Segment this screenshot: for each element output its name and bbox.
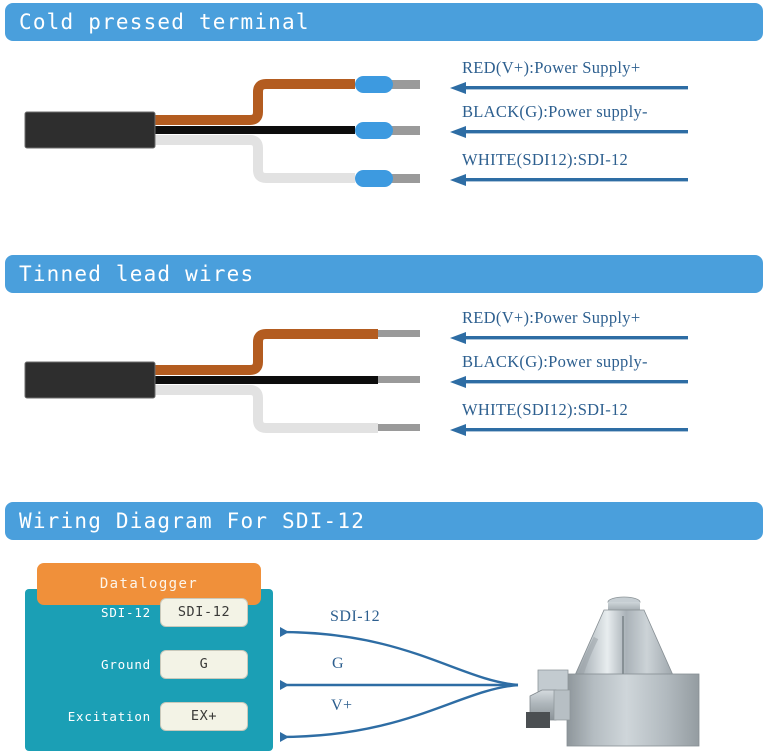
- cable-assembly-tinned: [0, 310, 460, 480]
- connection-label-sdi12: SDI-12: [330, 608, 380, 626]
- sensor-cone: [572, 610, 676, 682]
- cable-jacket: [25, 362, 155, 398]
- wire-label-group-white-1: WHITE(SDI12):SDI-12: [450, 150, 768, 194]
- red-wire-path: [150, 84, 355, 120]
- red-tinned-tip: [378, 330, 420, 337]
- wiring-instruction-sheet: Cold pressed terminal RED(V+):Power Supp…: [0, 0, 768, 753]
- wire-label-text: BLACK(G):Power supply-: [462, 352, 648, 372]
- wire-label-group-red-2: RED(V+):Power Supply+: [450, 308, 768, 352]
- sensor-fitting-collar: [554, 690, 570, 720]
- wire-label-group-white-2: WHITE(SDI12):SDI-12: [450, 400, 768, 444]
- cable-jacket: [25, 112, 155, 148]
- datalogger-title: Datalogger: [100, 576, 198, 592]
- terminal-excitation[interactable]: EX+: [160, 702, 248, 731]
- white-crimp-terminal: [355, 170, 393, 187]
- row-label: SDI-12: [25, 605, 160, 620]
- pointer-arrow-icon: [450, 331, 688, 345]
- row-label: Ground: [25, 657, 160, 672]
- row-label: Excitation: [25, 709, 160, 724]
- pointer-arrow-icon: [450, 125, 688, 139]
- wire-label-text: RED(V+):Power Supply+: [462, 58, 640, 78]
- wire-label-text: WHITE(SDI12):SDI-12: [462, 150, 628, 170]
- datalogger-row-excitation: Excitation EX+: [25, 701, 273, 731]
- connection-path-excitation: [280, 685, 518, 737]
- datalogger-row-ground: Ground G: [25, 649, 273, 679]
- pointer-arrow-icon: [450, 423, 688, 437]
- section-title: Tinned lead wires: [19, 262, 254, 286]
- connection-label-ground: G: [332, 655, 344, 673]
- terminal-sdi12[interactable]: SDI-12: [160, 598, 248, 627]
- wire-label-group-black-1: BLACK(G):Power supply-: [450, 102, 768, 146]
- terminal-ground[interactable]: G: [160, 650, 248, 679]
- connection-lines: [258, 560, 548, 750]
- section-banner-tinned-lead-wires: Tinned lead wires: [5, 255, 763, 293]
- white-tinned-tip: [378, 424, 420, 431]
- black-tinned-tip: [378, 376, 420, 383]
- cable-assembly-crimp: [0, 60, 460, 230]
- white-wire-path: [150, 390, 378, 428]
- pressure-sensor-image: [524, 586, 764, 753]
- section-title: Cold pressed terminal: [19, 10, 310, 34]
- section-banner-cold-pressed-terminal: Cold pressed terminal: [5, 3, 763, 41]
- connection-path-sdi12: [280, 632, 518, 685]
- wire-label-group-black-2: BLACK(G):Power supply-: [450, 352, 768, 396]
- black-crimp-terminal: [355, 122, 393, 139]
- red-wire-path: [150, 334, 378, 370]
- section-title: Wiring Diagram For SDI-12: [19, 509, 365, 533]
- red-crimp-terminal: [355, 76, 393, 93]
- section-banner-wiring-diagram: Wiring Diagram For SDI-12: [5, 502, 763, 540]
- white-wire-path: [150, 140, 355, 178]
- wire-label-text: BLACK(G):Power supply-: [462, 102, 648, 122]
- sensor-body: [567, 674, 699, 746]
- pointer-arrow-icon: [450, 81, 688, 95]
- pointer-arrow-icon: [450, 173, 688, 187]
- wire-label-group-red-1: RED(V+):Power Supply+: [450, 58, 768, 102]
- connection-label-excitation: V+: [331, 697, 353, 715]
- pointer-arrow-icon: [450, 375, 688, 389]
- wire-label-text: RED(V+):Power Supply+: [462, 308, 640, 328]
- datalogger-panel: Datalogger SDI-12 SDI-12 Ground G Excita…: [25, 563, 273, 751]
- sensor-cable-entry: [526, 712, 550, 728]
- datalogger-row-sdi12: SDI-12 SDI-12: [25, 597, 273, 627]
- wire-label-text: WHITE(SDI12):SDI-12: [462, 400, 628, 420]
